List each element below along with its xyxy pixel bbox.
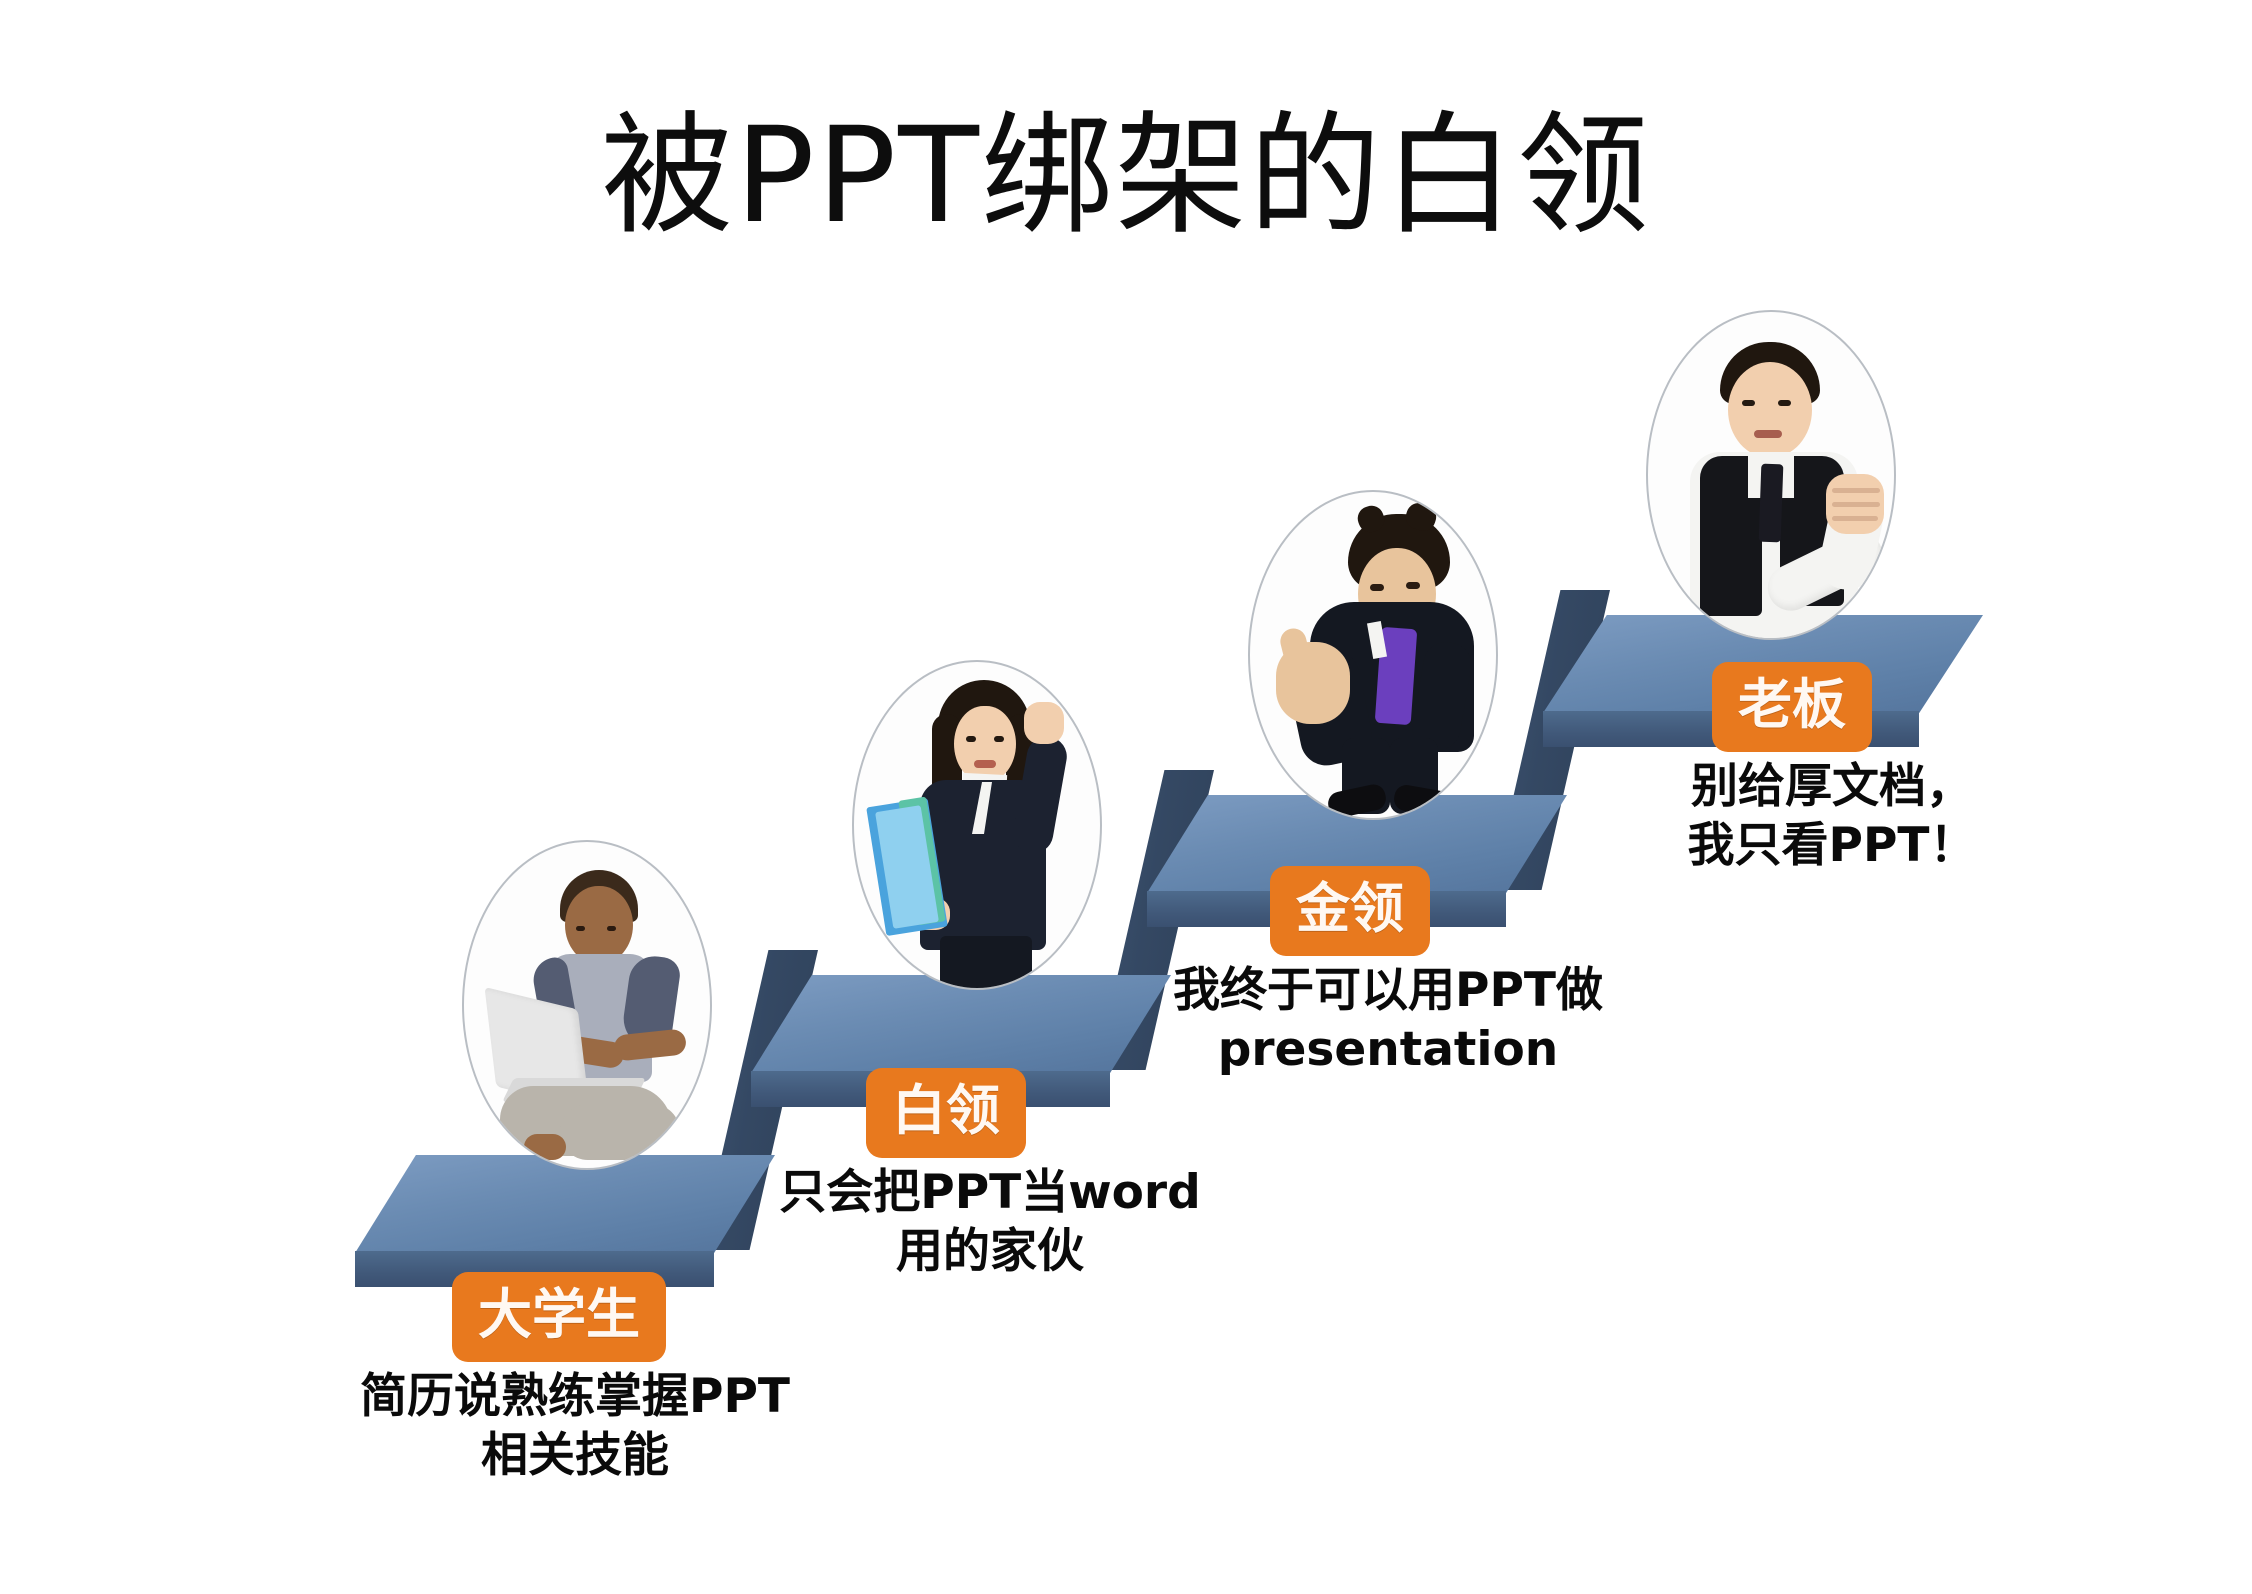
person-photo-4: [1646, 310, 1896, 640]
step-badge-1[interactable]: 大学生: [452, 1272, 666, 1362]
step-badge-2[interactable]: 白领: [866, 1068, 1026, 1158]
page-title: 被PPT绑架的白领: [0, 110, 2252, 242]
person-photo-1: [462, 840, 712, 1170]
person-photo-2: [852, 660, 1102, 990]
step-caption-1: 简历说熟练掌握PPT 相关技能: [285, 1368, 865, 1486]
step-caption-3: 我终于可以用PPT做 presentation: [1098, 962, 1678, 1080]
person-photo-3: [1248, 490, 1498, 820]
step-badge-4[interactable]: 老板: [1712, 662, 1872, 752]
step-badge-3[interactable]: 金领: [1270, 866, 1430, 956]
step-caption-2: 只会把PPT当word 用的家伙: [700, 1164, 1280, 1282]
step-caption-4: 别给厚文档， 我只看PPT！: [1542, 758, 2122, 876]
slide-canvas: 被PPT绑架的白领: [0, 0, 2252, 1594]
